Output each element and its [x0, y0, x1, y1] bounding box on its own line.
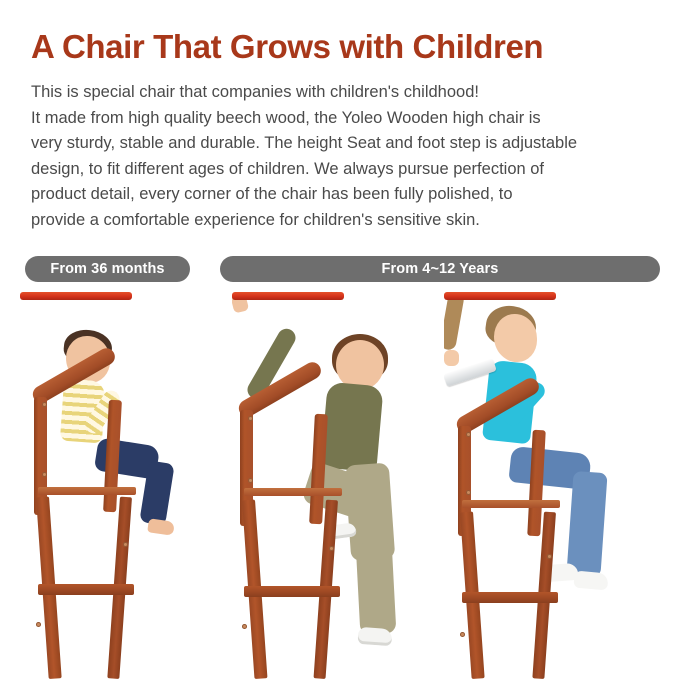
chair-screw	[123, 542, 128, 547]
chair-screw	[466, 490, 471, 495]
age-badge-label: From 4~12 Years	[382, 261, 499, 277]
chair-screw	[466, 432, 471, 437]
chair-screw	[242, 624, 247, 629]
chair-seat	[462, 500, 560, 508]
photo-girl-with-tablet	[444, 292, 669, 679]
age-badge-4-12-years: From 4~12 Years	[220, 256, 660, 282]
chair-red-seat-bar	[20, 292, 132, 300]
chair-stretcher	[38, 584, 134, 595]
chair-red-seat-bar	[444, 292, 556, 300]
description-line: provide a comfortable experience for chi…	[31, 208, 659, 234]
chair-screw	[36, 622, 41, 627]
description-line: product detail, every corner of the chai…	[31, 182, 659, 208]
product-description: This is special chair that companies wit…	[31, 80, 659, 233]
lifestyle-photo-strip	[0, 292, 679, 679]
chair-screw	[329, 546, 334, 551]
chair-back-post-right	[103, 400, 122, 513]
chair-red-seat-bar	[232, 292, 344, 300]
chair-seat	[244, 488, 342, 496]
chair-screw	[248, 416, 253, 421]
photo-toddler-seated	[20, 292, 235, 679]
photo-scene	[444, 292, 669, 679]
page-title: A Chair That Grows with Children	[31, 28, 651, 66]
age-badge-label: From 36 months	[50, 261, 164, 277]
photo-scene	[232, 292, 447, 679]
description-line: design, to fit different ages of childre…	[31, 157, 659, 183]
photo-scene	[20, 292, 235, 679]
chair-screw	[42, 402, 47, 407]
wooden-high-chair	[444, 292, 669, 679]
description-line: It made from high quality beech wood, th…	[31, 106, 659, 132]
chair-screw	[248, 478, 253, 483]
chair-stretcher	[244, 586, 340, 597]
chair-screw	[460, 632, 465, 637]
product-infographic: A Chair That Grows with Children This is…	[0, 0, 679, 679]
chair-screw	[547, 554, 552, 559]
age-badge-36-months: From 36 months	[25, 256, 190, 282]
chair-seat	[38, 487, 136, 495]
description-line: very sturdy, stable and durable. The hei…	[31, 131, 659, 157]
wooden-high-chair	[232, 292, 447, 679]
chair-screw	[42, 472, 47, 477]
chair-stretcher	[462, 592, 558, 603]
description-line: This is special chair that companies wit…	[31, 80, 659, 106]
wooden-high-chair	[20, 292, 235, 679]
age-range-badges: From 36 months From 4~12 Years	[0, 256, 679, 282]
photo-boy-climbing	[232, 292, 447, 679]
